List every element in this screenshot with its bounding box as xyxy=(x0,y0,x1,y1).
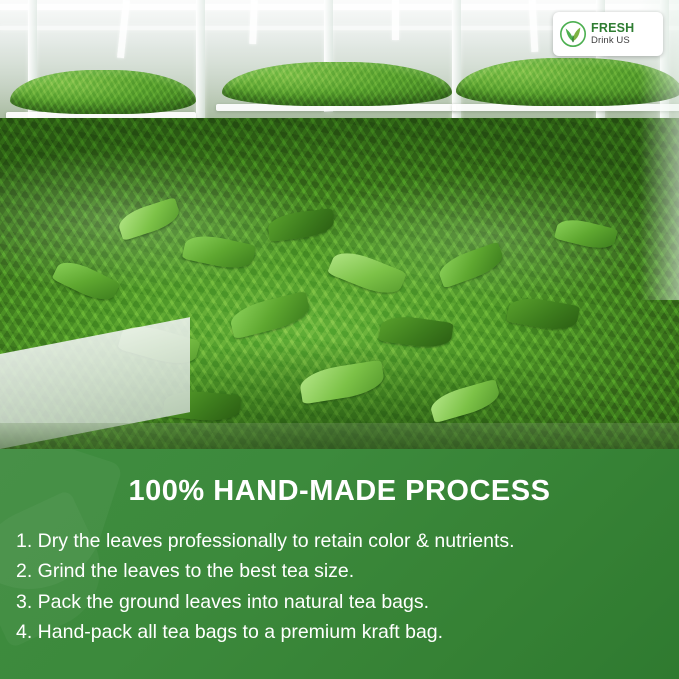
process-step: 1. Dry the leaves professionally to reta… xyxy=(16,526,665,556)
support-post xyxy=(196,0,205,120)
process-step: 3. Pack the ground leaves into natural t… xyxy=(16,587,665,617)
process-step: 2. Grind the leaves to the best tea size… xyxy=(16,556,665,586)
ceiling-beam xyxy=(392,0,399,40)
process-step-list: 1. Dry the leaves professionally to reta… xyxy=(0,526,679,648)
brand-logo: FRESH Drink US xyxy=(553,12,663,56)
brand-name-primary: FRESH xyxy=(591,22,634,35)
process-panel: 100% HAND-MADE PROCESS 1. Dry the leaves… xyxy=(0,449,679,679)
ceiling-beam xyxy=(0,4,679,10)
leaf-circle-icon xyxy=(560,21,586,47)
brand-logo-text: FRESH Drink US xyxy=(591,22,634,45)
panel-heading: 100% HAND-MADE PROCESS xyxy=(0,475,679,508)
greenhouse-floor xyxy=(0,423,679,449)
brand-name-secondary: Drink US xyxy=(591,36,634,46)
product-infographic: FRESH Drink US 100% HAND-MADE PROCESS 1.… xyxy=(0,0,679,679)
greenhouse-photo: FRESH Drink US xyxy=(0,0,679,449)
process-step: 4. Hand-pack all tea bags to a premium k… xyxy=(16,617,665,647)
